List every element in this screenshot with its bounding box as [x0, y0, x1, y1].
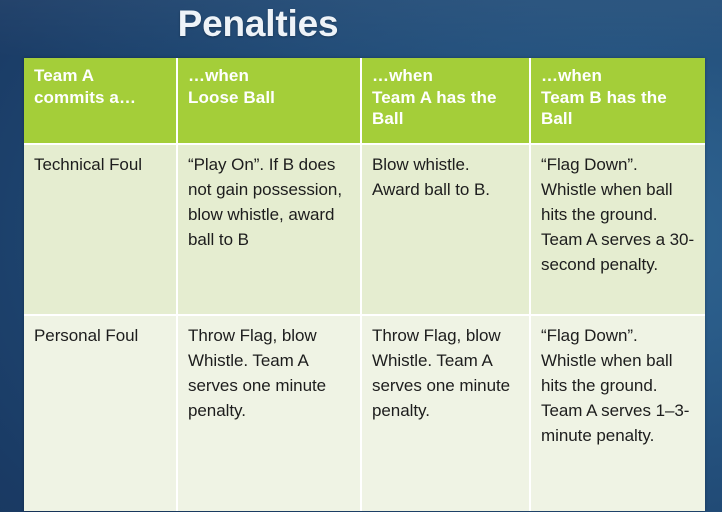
column-header-team-a-has-ball: …when Team A has the Ball	[361, 58, 530, 144]
header-line-2: Team B has the Ball	[541, 88, 667, 129]
slide-canvas: Penalties Team A commits a… …when Loose …	[0, 0, 722, 512]
cell-team-b-has-ball: “Flag Down”. Whistle when ball hits the …	[530, 315, 705, 511]
table-body: Technical Foul “Play On”. If B does not …	[24, 144, 705, 511]
cell-team-a-has-ball: Blow whistle. Award ball to B.	[361, 144, 530, 315]
table-header: Team A commits a… …when Loose Ball …when…	[24, 58, 705, 144]
cell-team-b-has-ball: “Flag Down”. Whistle when ball hits the …	[530, 144, 705, 315]
header-line-2: Team A has the Ball	[372, 88, 497, 129]
column-header-foul-type: Team A commits a…	[24, 58, 177, 144]
cell-loose-ball: Throw Flag, blow Whistle. Team A serves …	[177, 315, 361, 511]
header-line-2: commits a…	[34, 88, 136, 107]
page-title: Penalties	[0, 1, 516, 47]
table-row: Personal Foul Throw Flag, blow Whistle. …	[24, 315, 705, 511]
header-line-1: …when	[541, 66, 602, 85]
cell-foul-type: Personal Foul	[24, 315, 177, 511]
header-row: Team A commits a… …when Loose Ball …when…	[24, 58, 705, 144]
header-line-1: Team A	[34, 66, 94, 85]
header-line-1: …when	[372, 66, 433, 85]
cell-foul-type: Technical Foul	[24, 144, 177, 315]
penalties-table: Team A commits a… …when Loose Ball …when…	[24, 58, 705, 511]
column-header-team-b-has-ball: …when Team B has the Ball	[530, 58, 705, 144]
header-line-2: Loose Ball	[188, 88, 275, 107]
header-line-1: …when	[188, 66, 249, 85]
table-row: Technical Foul “Play On”. If B does not …	[24, 144, 705, 315]
cell-loose-ball: “Play On”. If B does not gain possession…	[177, 144, 361, 315]
cell-team-a-has-ball: Throw Flag, blow Whistle. Team A serves …	[361, 315, 530, 511]
column-header-loose-ball: …when Loose Ball	[177, 58, 361, 144]
